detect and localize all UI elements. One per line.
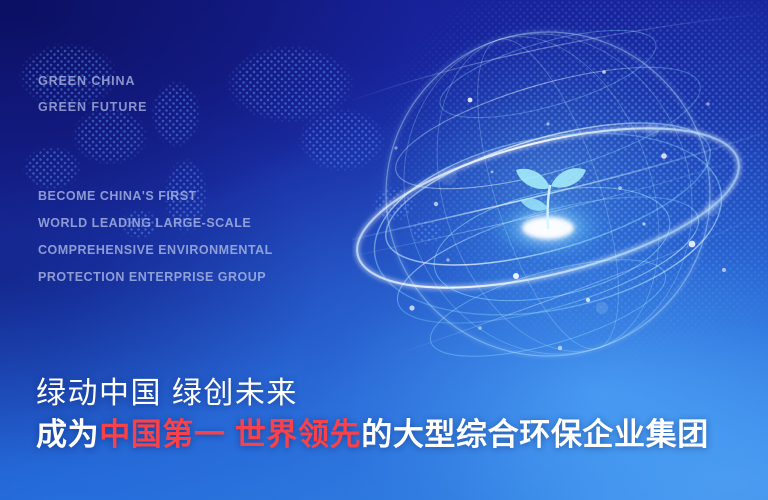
tagline-block: GREEN CHINA GREEN FUTURE — [38, 68, 147, 120]
wireframe-globe-graphic — [352, 8, 762, 388]
eco-brand-banner: GREEN CHINA GREEN FUTURE BECOME CHINA'S … — [0, 0, 768, 500]
headline-prefix: 成为 — [36, 417, 99, 452]
headline-line-2: 成为中国第一 世界领先的大型综合环保企业集团 — [36, 414, 750, 456]
mission-line-3: COMPREHENSIVE ENVIRONMENTAL — [38, 237, 273, 264]
tagline-line-2: GREEN FUTURE — [38, 94, 147, 120]
headline-accent: 中国第一 世界领先 — [99, 417, 361, 452]
mission-line-2: WORLD LEADING LARGE-SCALE — [38, 210, 273, 237]
tagline-line-1: GREEN CHINA — [38, 68, 147, 94]
mission-line-4: PROTECTION ENTERPRISE GROUP — [38, 264, 273, 291]
headline-line-1: 绿动中国 绿创未来 — [36, 374, 750, 414]
headline-block: 绿动中国 绿创未来 成为中国第一 世界领先的大型综合环保企业集团 — [36, 374, 750, 456]
mission-line-1: BECOME CHINA'S FIRST — [38, 183, 273, 210]
mission-statement-block: BECOME CHINA'S FIRST WORLD LEADING LARGE… — [38, 183, 273, 291]
headline-suffix: 的大型综合环保企业集团 — [361, 417, 709, 452]
